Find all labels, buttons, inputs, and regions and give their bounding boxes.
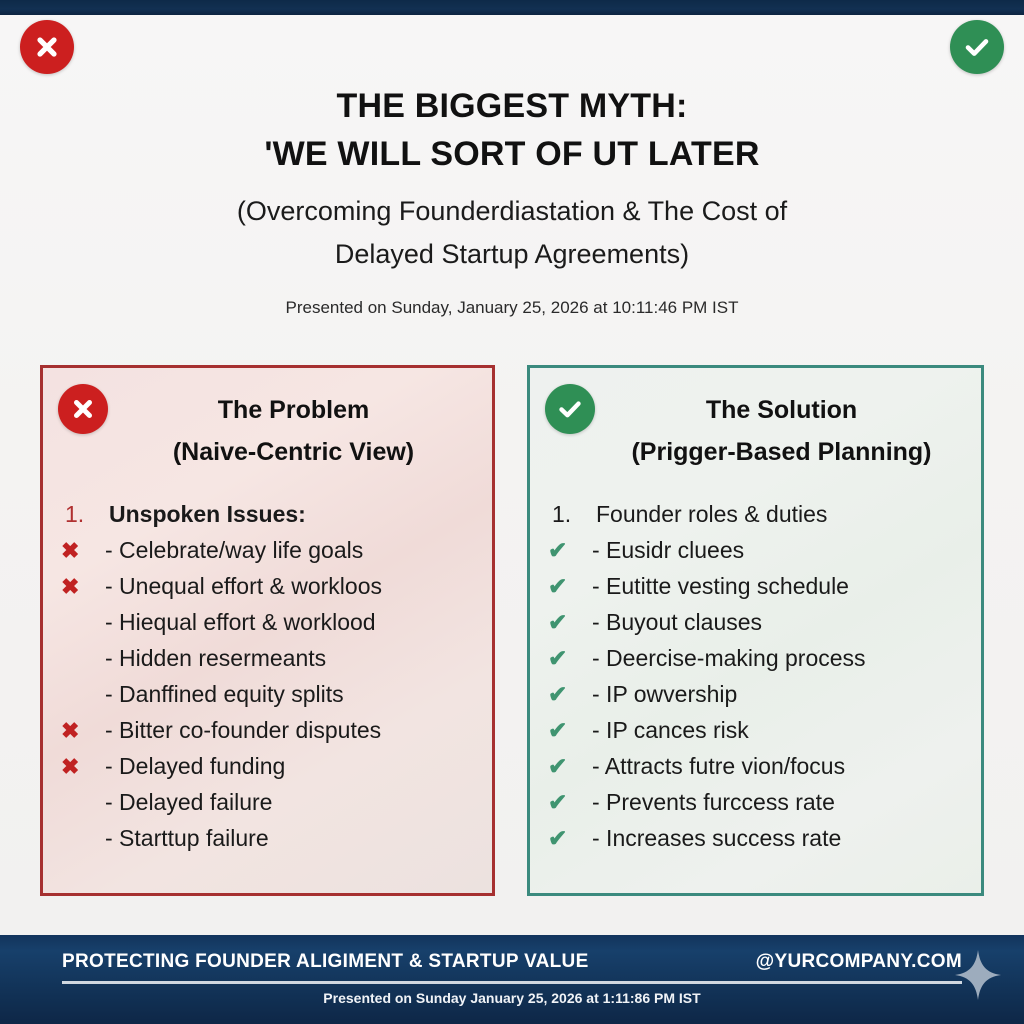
list-item-label: - Starttup failure xyxy=(105,825,269,852)
x-circle-icon xyxy=(58,384,108,434)
check-mark-icon: ✔ xyxy=(548,575,592,598)
title-line-1: THE BIGGEST MYTH: xyxy=(90,82,934,130)
list-item-label: - Unequal effort & workloos xyxy=(105,573,382,600)
solution-card: The Solution (Prigger-Based Planning) 1.… xyxy=(527,365,984,896)
list-item-label: Founder roles & duties xyxy=(596,501,827,528)
list-item: ✔- Prevents furccess rate xyxy=(548,789,969,825)
list-item: ✖- Delayed funding xyxy=(61,753,480,789)
list-item-label: - Bitter co-founder disputes xyxy=(105,717,381,744)
list-item: 1.Unspoken Issues: xyxy=(61,501,480,537)
list-item-label: - Deercise-making process xyxy=(592,645,866,672)
list-item-label: - Increases success rate xyxy=(592,825,841,852)
four-point-star-icon xyxy=(954,949,1002,1001)
footer-tagline: PROTECTING FOUNDER ALIGIMENT & STARTUP V… xyxy=(62,951,589,973)
list-item-label: - Prevents furccess rate xyxy=(592,789,835,816)
list-item: - Starttup failure xyxy=(61,825,480,861)
subtitle-line-2: Delayed Startup Agreements) xyxy=(92,233,932,276)
list-item: ✔- Deercise-making process xyxy=(548,645,969,681)
solution-title-line-2: (Prigger-Based Planning) xyxy=(592,432,971,474)
list-item: 1.Founder roles & duties xyxy=(548,501,969,537)
list-item: ✔- Eusidr cluees xyxy=(548,537,969,573)
x-mark-icon: ✖ xyxy=(61,575,105,598)
x-mark-icon: ✖ xyxy=(61,539,105,562)
page-title: THE BIGGEST MYTH: 'WE WILL SORT OF UT LA… xyxy=(90,82,934,179)
check-mark-icon: ✔ xyxy=(548,683,592,706)
check-mark-icon: ✔ xyxy=(548,647,592,670)
subtitle-line-1: (Overcoming Founderdiastation & The Cost… xyxy=(92,190,932,233)
footer-bar: PROTECTING FOUNDER ALIGIMENT & STARTUP V… xyxy=(0,935,1024,1024)
list-item-number: 1. xyxy=(548,503,596,526)
check-mark-icon: ✔ xyxy=(548,755,592,778)
list-item: ✔- Attracts futre vion/focus xyxy=(548,753,969,789)
problem-title-line-1: The Problem xyxy=(105,390,482,432)
solution-card-title: The Solution (Prigger-Based Planning) xyxy=(592,390,971,473)
page-subtitle: (Overcoming Founderdiastation & The Cost… xyxy=(92,190,932,275)
list-item: ✖- Bitter co-founder disputes xyxy=(61,717,480,753)
check-mark-icon: ✔ xyxy=(548,719,592,742)
footer-primary-row: PROTECTING FOUNDER ALIGIMENT & STARTUP V… xyxy=(62,951,962,973)
check-circle-icon xyxy=(545,384,595,434)
list-item: ✔- Eutitte vesting schedule xyxy=(548,573,969,609)
list-item: ✖- Unequal effort & workloos xyxy=(61,573,480,609)
check-mark-icon: ✔ xyxy=(548,539,592,562)
problem-card-title: The Problem (Naive-Centric View) xyxy=(105,390,482,473)
list-item: - Hiequal effort & worklood xyxy=(61,609,480,645)
check-mark-icon: ✔ xyxy=(548,611,592,634)
list-item: ✔- Buyout clauses xyxy=(548,609,969,645)
x-mark-icon: ✖ xyxy=(61,755,105,778)
list-item: - Hidden resermeants xyxy=(61,645,480,681)
list-item: ✖- Celebrate/way life goals xyxy=(61,537,480,573)
list-item-label: - IP owvership xyxy=(592,681,737,708)
solution-list: 1.Founder roles & duties✔- Eusidr cluees… xyxy=(530,501,981,861)
list-item-label: - Hidden resermeants xyxy=(105,645,326,672)
list-item-label: - Attracts futre vion/focus xyxy=(592,753,845,780)
list-item-label: - Eutitte vesting schedule xyxy=(592,573,849,600)
list-item-number: 1. xyxy=(61,503,109,526)
list-item-label: - Hiequal effort & worklood xyxy=(105,609,376,636)
x-mark-icon: ✖ xyxy=(61,719,105,742)
list-item-label: - Buyout clauses xyxy=(592,609,762,636)
list-item-label: - Eusidr cluees xyxy=(592,537,744,564)
list-item-label: Unspoken Issues: xyxy=(109,501,306,528)
footer-website[interactable]: @YURCOMPANY.COM xyxy=(756,951,962,973)
list-item: ✔- IP cances risk xyxy=(548,717,969,753)
check-mark-icon: ✔ xyxy=(548,827,592,850)
problem-title-line-2: (Naive-Centric View) xyxy=(105,432,482,474)
header-timestamp: Presented on Sunday, January 25, 2026 at… xyxy=(92,298,932,318)
list-item-label: - Delayed funding xyxy=(105,753,285,780)
list-item-label: - Delayed failure xyxy=(105,789,272,816)
list-item: - Delayed failure xyxy=(61,789,480,825)
list-item: ✔- IP owvership xyxy=(548,681,969,717)
list-item: - Danffined equity splits xyxy=(61,681,480,717)
list-item-label: - Celebrate/way life goals xyxy=(105,537,363,564)
solution-title-line-1: The Solution xyxy=(592,390,971,432)
top-accent-bar xyxy=(0,0,1024,15)
problem-list: 1.Unspoken Issues:✖- Celebrate/way life … xyxy=(43,501,492,861)
check-circle-icon xyxy=(950,20,1004,74)
problem-card: The Problem (Naive-Centric View) 1.Unspo… xyxy=(40,365,495,896)
list-item-label: - IP cances risk xyxy=(592,717,749,744)
footer-divider xyxy=(62,981,962,984)
footer-timestamp: Presented on Sunday January 25, 2026 at … xyxy=(0,990,1024,1006)
check-mark-icon: ✔ xyxy=(548,791,592,814)
list-item: ✔- Increases success rate xyxy=(548,825,969,861)
title-line-2: 'WE WILL SORT OF UT LATER xyxy=(90,130,934,178)
x-circle-icon xyxy=(20,20,74,74)
list-item-label: - Danffined equity splits xyxy=(105,681,344,708)
